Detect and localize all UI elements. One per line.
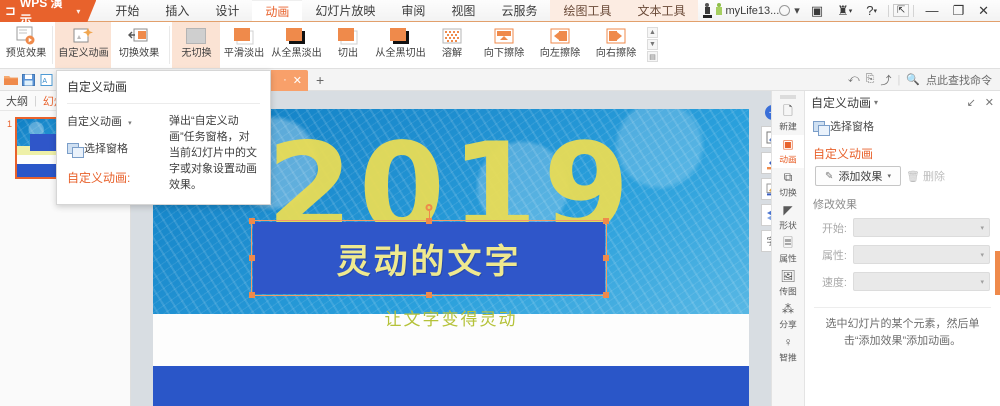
new-tab-button[interactable]: +	[316, 72, 324, 88]
ribbon-item-label: 从全黑切出	[375, 47, 426, 58]
custom-animation-icon	[72, 25, 94, 47]
find-command-box[interactable]: ⤺ ⎘ ⤴ | 🔍 点此查找命令	[848, 72, 1000, 88]
divider	[888, 5, 889, 17]
selection-frame[interactable]	[251, 220, 607, 296]
ribbon-group-preview: 预览效果	[2, 22, 50, 69]
chevron-down-icon: ▾	[887, 172, 891, 180]
rail-item-label: 传图	[779, 284, 797, 297]
tab-sheji[interactable]: 设计	[202, 0, 252, 21]
chevron-down-icon: ▾	[128, 120, 132, 127]
resize-handle-sw[interactable]	[249, 292, 255, 298]
restore-down-icon[interactable]: ⇱	[893, 4, 909, 17]
save-icon[interactable]	[21, 72, 36, 87]
rail-collapse-handle[interactable]	[780, 95, 796, 99]
wipe-down-icon	[492, 25, 516, 47]
tab-wenben-gongju[interactable]: 文本工具	[624, 0, 698, 21]
ribbon-gallery-scroll[interactable]: ▲ ▼ ▤	[647, 27, 658, 62]
rail-item-label: 分享	[779, 317, 797, 330]
gallery-expand-button[interactable]: ▤	[647, 51, 658, 62]
field-label: 速度:	[819, 274, 847, 290]
tooltip-shortcut-label: 自定义动画:	[67, 169, 159, 186]
rail-item-properties[interactable]: 🗏 属性	[772, 234, 805, 267]
tooltip-description: 弹出“自定义动画”任务窗格，对当前幻灯片中的文字或对象设置动画效果。	[169, 113, 260, 193]
back-icon[interactable]: ⤺	[848, 73, 860, 86]
rotate-handle[interactable]	[426, 204, 433, 211]
wps-logo-icon: ⊐	[5, 3, 16, 19]
cut-from-black-icon	[388, 25, 412, 47]
document-modified-indicator: ·	[283, 74, 293, 86]
chevron-down-icon[interactable]: ▾	[790, 4, 804, 17]
select-pane-icon	[813, 121, 825, 132]
maximize-button[interactable]: ❐	[945, 3, 971, 19]
upload-image-icon: 🖼	[780, 270, 795, 283]
custom-animation-tooltip: 自定义动画 自定义动画 ▾ 选择窗格 自定义动画: 弹出“自定义动画”任务窗格，…	[56, 70, 271, 205]
resize-handle-n[interactable]	[426, 218, 432, 224]
ribbon-fade-from-black-button[interactable]: 从全黑淡出	[268, 22, 324, 68]
wipe-left-icon	[548, 25, 572, 47]
ribbon-item-label: 向左擦除	[540, 47, 580, 58]
resize-handle-se[interactable]	[603, 292, 609, 298]
dissolve-icon	[441, 25, 463, 47]
tab-huitu-gongju[interactable]: 绘图工具	[550, 0, 624, 21]
property-dropdown: ▾	[853, 245, 990, 264]
rail-item-label: 切换	[779, 185, 797, 198]
field-property: 属性: ▾	[805, 241, 1000, 268]
rail-item-smart-recommend[interactable]: ♀ 智推	[772, 333, 805, 366]
ribbon-item-label: 无切换	[181, 47, 211, 58]
panel-minimize-button[interactable]: ↙	[967, 96, 976, 109]
ribbon-transition-effect-button[interactable]: 切换效果	[111, 22, 167, 68]
ribbon-toolbar: 预览效果 自定义动画 切换效果 无切换	[0, 22, 1000, 69]
rail-item-transition[interactable]: ⧉ 切换	[772, 168, 805, 201]
avatar[interactable]	[698, 3, 725, 18]
panel-title: 自定义动画	[811, 94, 871, 111]
title-bar: ⊐ WPS 演示 ▾ 开始 插入 设计 动画 幻灯片放映 审阅 视图 云服务 绘…	[0, 0, 1000, 22]
forward-icon[interactable]: ⎘	[866, 73, 875, 86]
menu-tabs: 开始 插入 设计 动画 幻灯片放映 审阅 视图 云服务 绘图工具 文本工具	[102, 0, 698, 21]
speed-dropdown: ▾	[853, 272, 990, 291]
plant-icon	[714, 3, 725, 18]
fade-from-black-icon	[284, 25, 308, 47]
tab-outline[interactable]: 大纲	[6, 93, 28, 109]
resize-handle-nw[interactable]	[249, 218, 255, 224]
ribbon-item-label: 自定义动画	[58, 47, 109, 58]
resize-handle-ne[interactable]	[603, 218, 609, 224]
cloud-sync-icon[interactable]	[779, 5, 790, 16]
divider	[52, 26, 53, 64]
tab-label: 动画	[265, 3, 289, 20]
ribbon-item-label: 向右擦除	[596, 47, 636, 58]
rail-item-animation[interactable]: ▣ 动画	[772, 135, 805, 168]
right-icon-rail: 🗋 新建 ▣ 动画 ⧉ 切换 ◤ 形状 🗏 属性 🖼 传图 ⁂ 分享 ♀	[771, 91, 804, 406]
tab-label: 绘图工具	[563, 2, 611, 19]
tooltip-preview: 自定义动画 ▾ 选择窗格 自定义动画:	[67, 113, 159, 193]
field-label: 属性:	[819, 247, 847, 263]
tab-label: 云服务	[501, 2, 537, 19]
ribbon-wipe-down-button[interactable]: 向下擦除	[476, 22, 532, 68]
rail-item-label: 新建	[779, 119, 797, 132]
tab-label: 幻灯片放映	[315, 2, 375, 19]
chevron-down-icon: ▾	[849, 7, 853, 15]
field-label: 开始:	[819, 220, 847, 236]
resize-handle-w[interactable]	[249, 255, 255, 261]
tab-label: 插入	[165, 2, 189, 19]
tab-shitu[interactable]: 视图	[438, 0, 488, 21]
rail-item-new[interactable]: 🗋 新建	[772, 102, 805, 135]
chevron-down-icon[interactable]: ▾	[76, 7, 80, 16]
divider	[169, 26, 170, 64]
delete-label: 删除	[923, 168, 945, 184]
divider	[913, 5, 914, 17]
tooltip-menu-label: 选择窗格	[84, 140, 128, 156]
ribbon-item-label: 向下擦除	[484, 47, 524, 58]
slide-number: 1	[4, 117, 12, 179]
ribbon-no-transition-button[interactable]: 无切换	[172, 22, 220, 68]
select-pane-icon	[67, 143, 79, 154]
delete-effect-button: 🗑 删除	[906, 168, 945, 184]
gallery-scroll-down-button[interactable]: ▼	[647, 39, 658, 50]
app-brand-button[interactable]: ⊐ WPS 演示 ▾	[0, 0, 96, 22]
rail-item-label: 智推	[779, 350, 797, 363]
minimize-button[interactable]: —	[918, 3, 945, 18]
tooltip-menu-item-custom-animation[interactable]: 自定义动画 ▾	[67, 113, 159, 129]
slide-blue-band	[153, 366, 749, 406]
wipe-right-icon	[604, 25, 628, 47]
tab-label: 审阅	[401, 2, 425, 19]
transition-effect-icon	[128, 25, 150, 47]
add-effect-label: 添加效果	[838, 168, 882, 184]
panel-hint-text: 选中幻灯片的某个元素，然后单击“添加效果”添加动画。	[814, 307, 991, 358]
skin-icon[interactable]: ♜▾	[830, 3, 859, 19]
ribbon-group-animation: 自定义动画 切换效果	[55, 22, 167, 69]
tooltip-menu-item-select-pane[interactable]: 选择窗格	[67, 140, 159, 156]
no-transition-icon	[186, 25, 206, 47]
select-pane-label: 选择窗格	[830, 118, 874, 134]
share-icon: ⁂	[782, 303, 794, 316]
properties-icon: 🗏	[783, 237, 793, 250]
field-speed: 速度: ▾	[805, 268, 1000, 295]
tab-shenyue[interactable]: 审阅	[388, 0, 438, 21]
panel-scrollbar-thumb[interactable]	[995, 251, 1000, 295]
gallery-scroll-up-button[interactable]: ▲	[647, 27, 658, 38]
animation-icon: ▣	[782, 138, 793, 151]
cut-icon	[336, 25, 360, 47]
ribbon-smooth-fade-button[interactable]: 平滑淡出	[220, 22, 268, 68]
trash-icon: 🗑	[906, 170, 920, 183]
close-button[interactable]: ✕	[971, 3, 996, 19]
ribbon-item-label: 切换效果	[119, 47, 159, 58]
ribbon-preview-effect-button[interactable]: 预览效果	[2, 22, 50, 68]
custom-animation-task-panel: 自定义动画 ▾ ↙ ✕ 选择窗格 自定义动画 ✎ 添加效果 ▾ 🗑 删除 修改效…	[804, 91, 1000, 406]
tab-label: 开始	[115, 2, 139, 19]
ribbon-cut-from-black-button[interactable]: 从全黑切出	[372, 22, 428, 68]
search-input[interactable]: 点此查找命令	[926, 72, 992, 88]
ribbon-item-label: 切出	[338, 47, 358, 58]
search-icon: 🔍	[906, 73, 920, 86]
panel-section-title: 自定义动画	[805, 139, 1000, 164]
start-dropdown: ▾	[853, 218, 990, 237]
new-doc-icon: 🗋	[783, 105, 793, 118]
ribbon-group-transitions: 无切换 平滑淡出 从全黑淡出 切出	[172, 22, 644, 69]
panel-close-button[interactable]: ✕	[985, 96, 994, 109]
rail-item-label: 属性	[779, 251, 797, 264]
ribbon-cut-button[interactable]: 切出	[324, 22, 372, 68]
tab-charu[interactable]: 插入	[152, 0, 202, 21]
modify-effect-title: 修改效果	[805, 186, 1000, 214]
ribbon-wipe-right-button[interactable]: 向右擦除	[588, 22, 644, 68]
rail-item-upload-image[interactable]: 🖼 传图	[772, 267, 805, 300]
export-pdf-icon[interactable]: A	[39, 72, 54, 87]
tooltip-menu-label: 自定义动画	[67, 116, 122, 128]
rail-item-share[interactable]: ⁂ 分享	[772, 300, 805, 333]
add-effect-row: ✎ 添加效果 ▾ 🗑 删除	[805, 164, 1000, 186]
tab-label: 视图	[451, 2, 475, 19]
smart-recommend-icon: ♀	[784, 336, 793, 349]
add-effect-button[interactable]: ✎ 添加效果 ▾	[815, 166, 901, 186]
person-icon	[702, 3, 713, 18]
pen-icon: ✎	[825, 171, 833, 182]
tab-donghua[interactable]: 动画	[252, 0, 302, 21]
share-icon[interactable]: ⤴	[880, 72, 891, 88]
divider: |	[34, 95, 37, 107]
panel-header: 自定义动画 ▾ ↙ ✕	[805, 91, 1000, 113]
close-icon[interactable]: ✕	[293, 74, 302, 87]
ribbon-item-label: 从全黑淡出	[271, 47, 322, 58]
ribbon-custom-animation-button[interactable]: 自定义动画	[55, 22, 111, 68]
tab-label: 文本工具	[637, 2, 685, 19]
chevron-down-icon[interactable]: ▾	[874, 98, 878, 107]
resize-handle-s[interactable]	[426, 292, 432, 298]
preview-effect-icon	[15, 25, 37, 47]
tab-kaishi[interactable]: 开始	[102, 0, 152, 21]
transition-icon: ⧉	[784, 171, 793, 184]
resize-handle-e[interactable]	[603, 255, 609, 261]
rail-item-label: 动画	[779, 152, 797, 165]
panel-header-actions: ↙ ✕	[967, 96, 994, 109]
slide-subtitle-text[interactable]: 让文字变得灵动	[153, 305, 749, 330]
smooth-fade-icon	[232, 25, 256, 47]
ribbon-item-label: 预览效果	[6, 47, 46, 58]
rail-item-shape[interactable]: ◤ 形状	[772, 201, 805, 234]
ribbon-item-label: 平滑淡出	[224, 47, 264, 58]
tooltip-body: 自定义动画 ▾ 选择窗格 自定义动画: 弹出“自定义动画”任务窗格，对当前幻灯片…	[67, 103, 260, 193]
chevron-down-icon: ▾	[874, 7, 878, 15]
help-icon[interactable]: ?▾	[859, 3, 884, 18]
ribbon-item-label: 溶解	[442, 47, 462, 58]
ribbon-wipe-left-button[interactable]: 向左擦除	[532, 22, 588, 68]
title-bar-right: myLife13... ▾ ▣ ♜▾ ?▾ ⇱ — ❐ ✕	[698, 0, 1000, 21]
select-pane-row[interactable]: 选择窗格	[805, 113, 1000, 139]
tab-yunfuwu[interactable]: 云服务	[488, 0, 550, 21]
rail-item-label: 形状	[779, 218, 797, 231]
save-icon[interactable]: ▣	[804, 3, 830, 19]
field-start: 开始: ▾	[805, 214, 1000, 241]
tab-huandengpianfangying[interactable]: 幻灯片放映	[302, 0, 388, 21]
shape-icon: ◤	[783, 204, 792, 217]
open-folder-icon[interactable]	[3, 72, 18, 87]
ribbon-dissolve-button[interactable]: 溶解	[428, 22, 476, 68]
username-label[interactable]: myLife13...	[725, 5, 779, 17]
tooltip-title: 自定义动画	[67, 78, 260, 95]
svg-text:A: A	[42, 78, 47, 85]
tab-label: 设计	[215, 2, 239, 19]
